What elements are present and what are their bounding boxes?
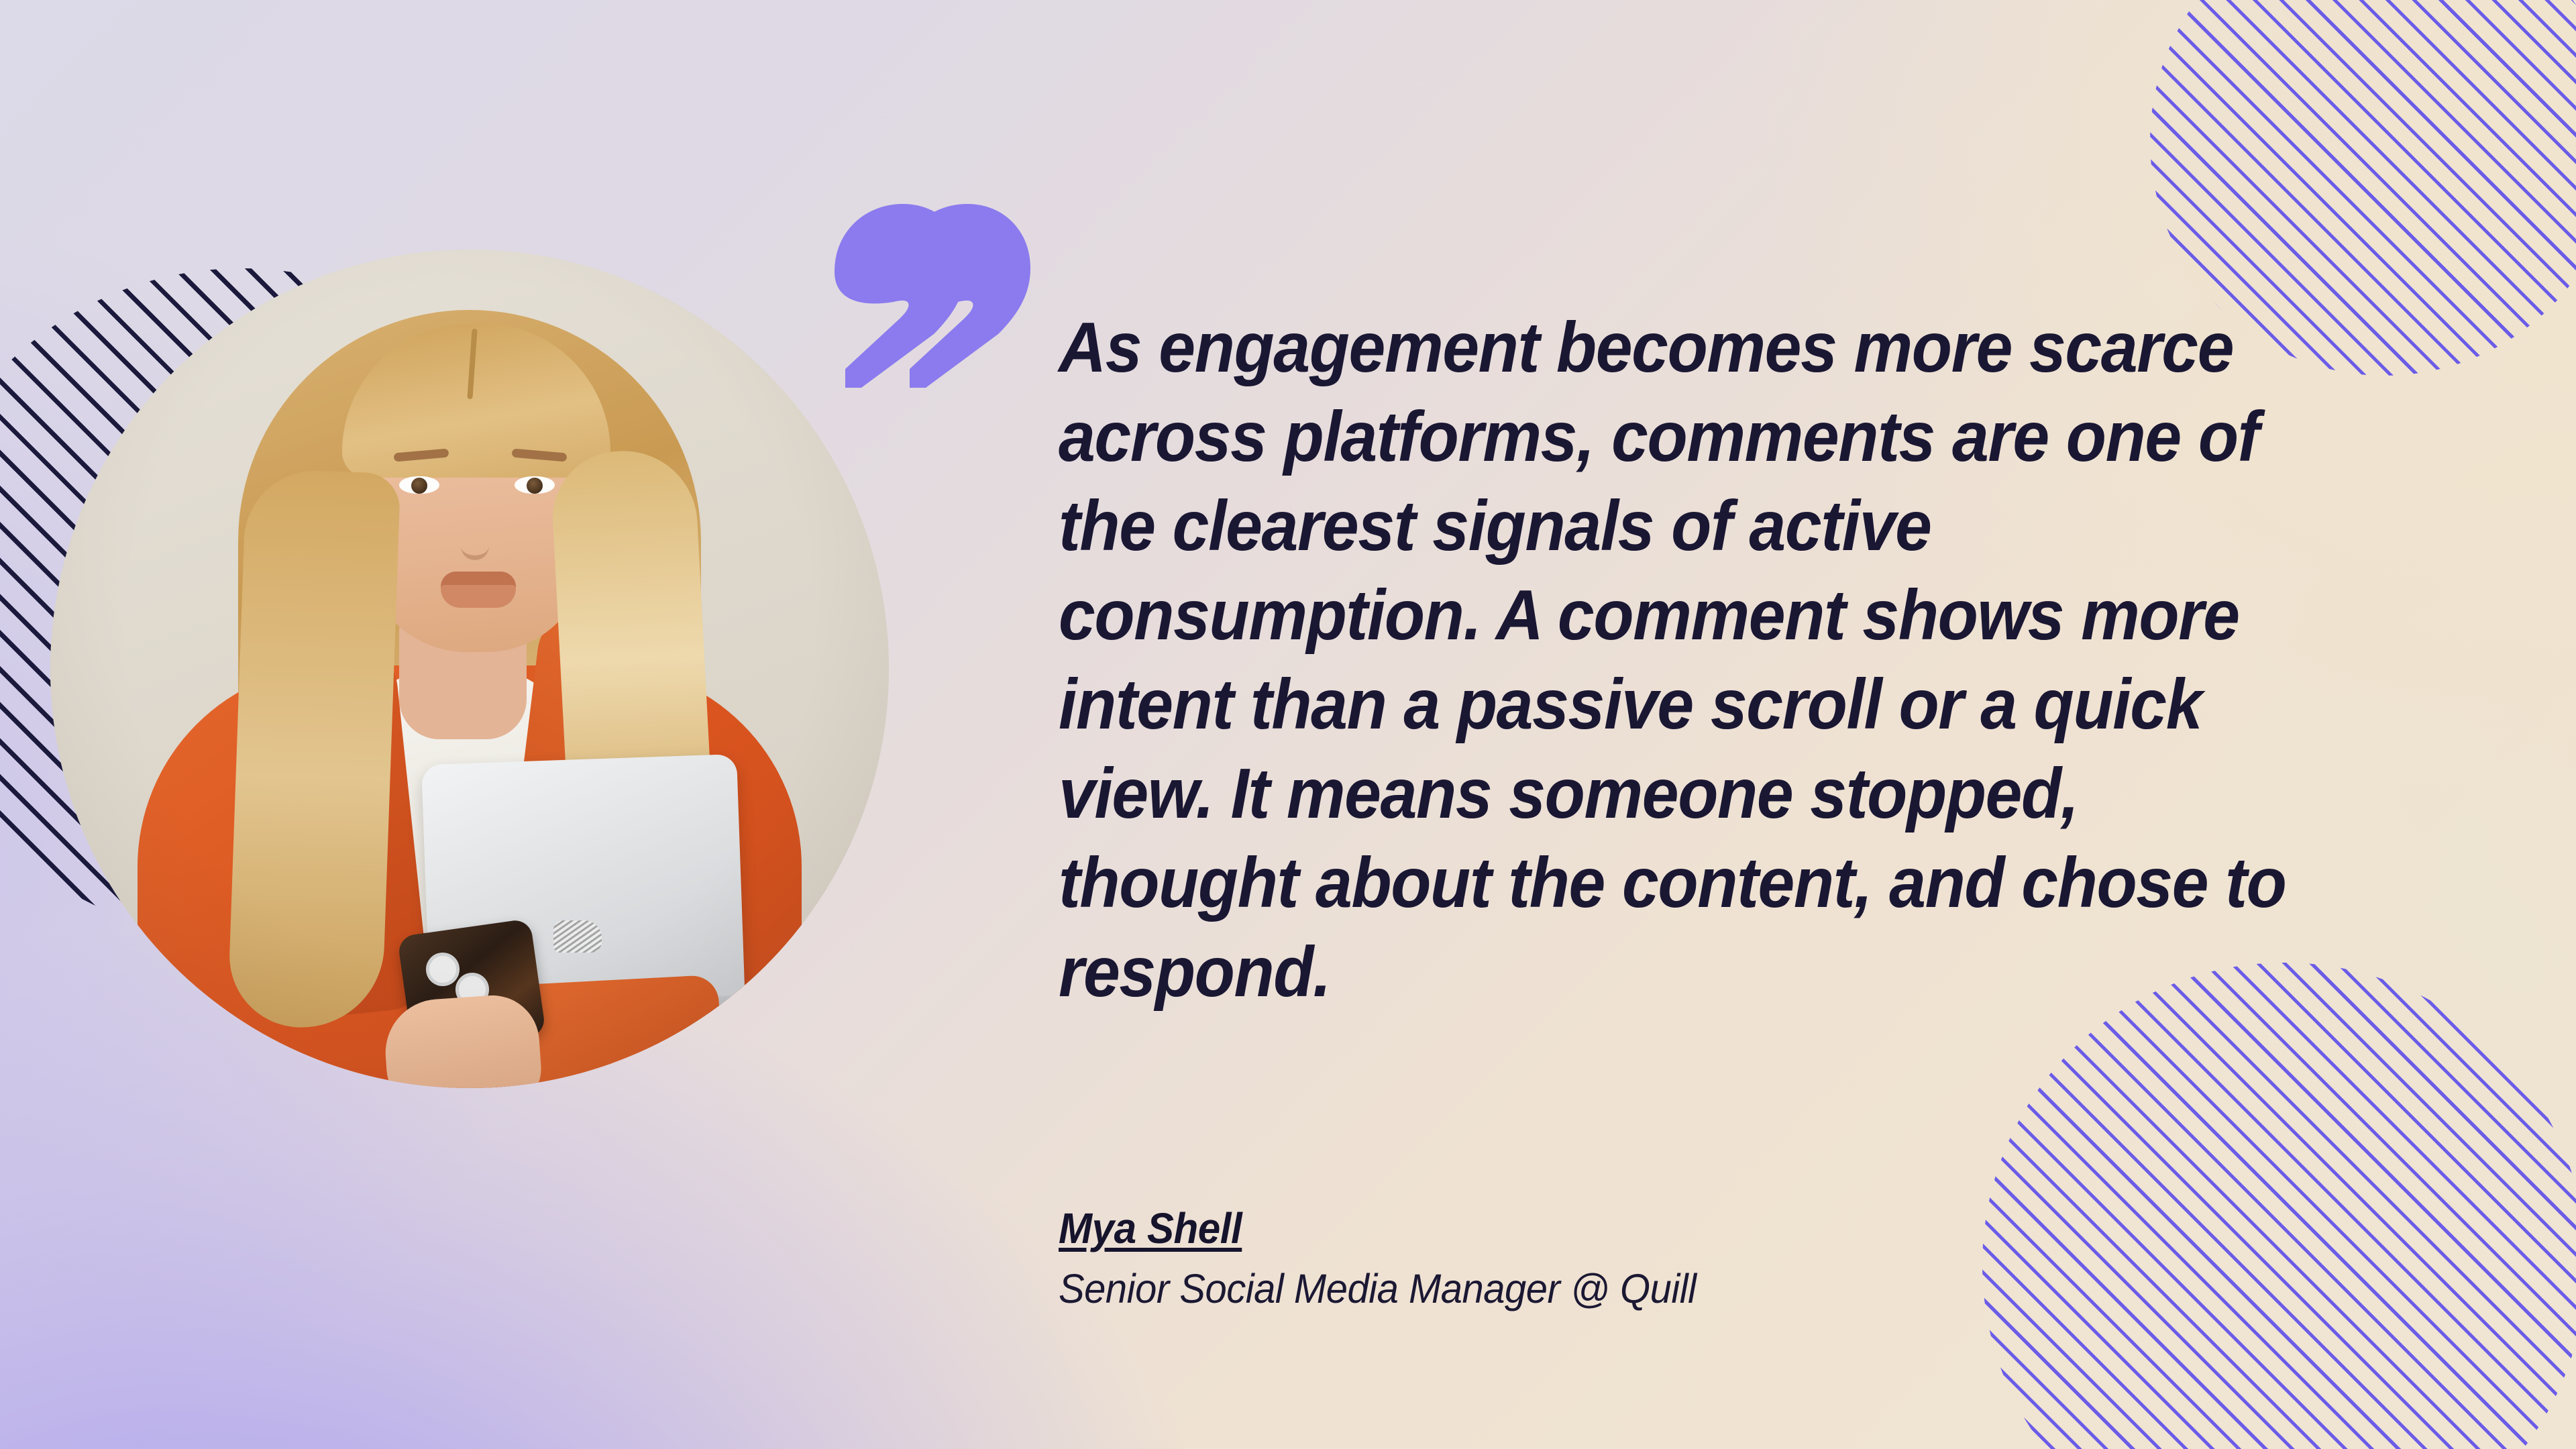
attribution-block: Mya Shell Senior Social Media Manager @ … [1059,1202,2400,1313]
testimonial-card: As engagement becomes more scarce across… [0,0,2576,1449]
quote-block: As engagement becomes more scarce across… [1059,303,2400,1017]
author-role: Senior Social Media Manager @ Quill [1059,1264,2333,1313]
quote-text: As engagement becomes more scarce across… [1059,303,2306,1017]
closing-double-quote-icon [826,201,1041,389]
author-portrait-avatar [50,250,889,1088]
portrait-vignette [50,250,889,1088]
author-name: Mya Shell [1059,1202,1242,1254]
